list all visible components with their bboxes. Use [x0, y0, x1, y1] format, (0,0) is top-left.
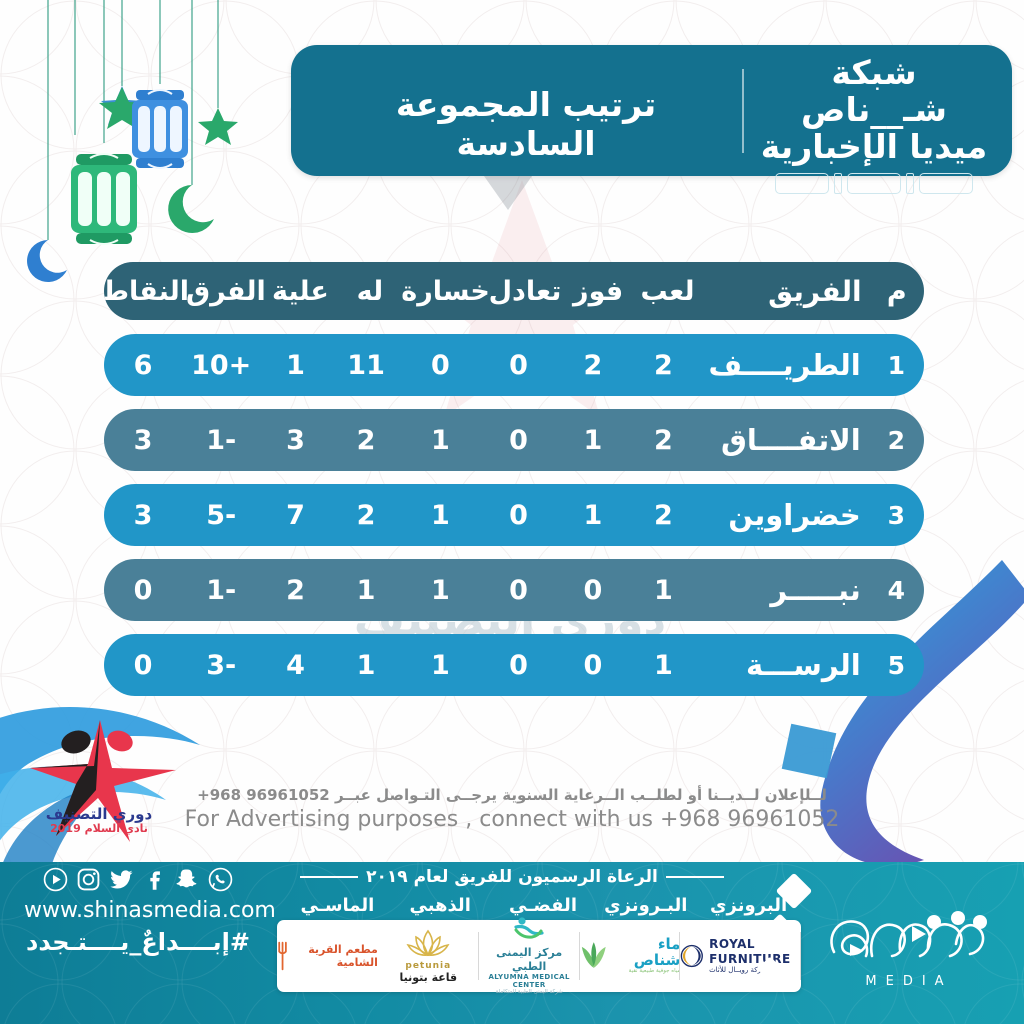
sponsors-title: الرعاة الرسميون للفريق لعام ٢٠١٩ — [366, 867, 658, 887]
banner-pointer — [484, 176, 532, 210]
sponsor-sub: مياه جوفية طبيعية نقية — [612, 968, 680, 975]
social-links — [30, 866, 245, 892]
cell-ga: 4 — [260, 634, 331, 696]
sponsor-shamiya-village[interactable]: مطعم القرية الشامية — [277, 920, 378, 992]
cell-points: 6 — [104, 334, 182, 396]
col-header-team: الفريق — [702, 262, 869, 320]
twitter-icon[interactable] — [108, 866, 134, 892]
globe-icon — [680, 939, 704, 973]
sponsor-shinas-water[interactable]: ماء شناص مياه جوفية طبيعية نقية — [580, 920, 681, 992]
cell-win: 1 — [558, 409, 629, 471]
col-header-played: لعب — [633, 262, 702, 320]
cell-loss: 1 — [401, 634, 479, 696]
cell-gf: 1 — [331, 634, 402, 696]
cell-points: 3 — [104, 409, 182, 471]
cell-loss: 0 — [401, 334, 479, 396]
footer-bar: الرعاة الرسميون للفريق لعام ٢٠١٩ الماسـي… — [0, 862, 1024, 1024]
cell-draw: 0 — [479, 334, 557, 396]
cell-gd: -3 — [182, 634, 260, 696]
media-wordmark: MEDIA — [834, 974, 984, 989]
facebook-icon[interactable] — [141, 866, 167, 892]
col-header-gf: له — [335, 262, 404, 320]
brand-line-2: ميديا الإخبارية — [754, 129, 994, 166]
cell-gd: -1 — [182, 409, 260, 471]
table-header-row: م الفريق لعب فوز تعادل خسارة له علية الف… — [104, 262, 924, 320]
brand-box-small — [834, 173, 842, 194]
cell-loss: 1 — [401, 559, 479, 621]
cell-gd: -5 — [182, 484, 260, 546]
leaf-icon — [580, 939, 608, 973]
cell-gd: -1 — [182, 559, 260, 621]
sponsor-logo-strip: مطعم القرية الشامية — [277, 920, 801, 992]
table-row[interactable]: 1 الطريــــف 2 2 0 0 11 1 +10 6 — [104, 334, 924, 396]
advertising-block: لــلإعلان لــديــنا أو لطلــب الــرعاية … — [0, 786, 1024, 832]
cell-loss: 1 — [401, 409, 479, 471]
cell-team: نبـــــر — [699, 559, 869, 621]
table-row[interactable]: 3 خضراوين 2 1 0 1 2 7 -5 3 — [104, 484, 924, 546]
sponsor-tiers: الماسـي الذهبي الفضـي البـرونزي البرونزي — [286, 892, 800, 918]
network-brand: شبكة شـ__ناص ميديا الإخبارية — [754, 55, 994, 194]
cell-rank: 2 — [869, 409, 924, 471]
sponsor-sub: شركة اليمنى الطبية المتكاملة — [479, 989, 580, 996]
cell-rank: 1 — [869, 334, 924, 396]
col-header-rank: م — [870, 262, 924, 320]
col-header-loss: خسارة — [405, 262, 487, 320]
cell-ga: 7 — [260, 484, 331, 546]
cell-gf: 1 — [331, 559, 402, 621]
col-header-points: النقاط — [104, 262, 186, 320]
advertising-english: For Advertising purposes , connect with … — [0, 807, 1024, 832]
title-rule-right — [300, 876, 358, 878]
brand-box — [847, 173, 901, 194]
cell-played: 1 — [628, 634, 699, 696]
blue-square-decoration — [782, 724, 837, 779]
lotus-icon — [406, 927, 450, 957]
col-header-gd: الفرق — [186, 262, 266, 320]
advertising-arabic: لــلإعلان لــديــنا أو لطلــب الــرعاية … — [0, 786, 1024, 804]
cell-loss: 1 — [401, 484, 479, 546]
cell-ga: 1 — [260, 334, 331, 396]
table-row[interactable]: 5 الرســـة 1 0 0 1 1 4 -3 0 — [104, 634, 924, 696]
title-divider — [742, 69, 744, 153]
title-banner: شبكة شـ__ناص ميديا الإخبارية ترتيب المجم… — [291, 45, 1012, 176]
brand-box — [775, 173, 829, 194]
sponsor-name-ar: ماء شناص — [612, 937, 680, 969]
fork-icon — [277, 936, 288, 976]
cell-played: 2 — [628, 484, 699, 546]
cell-win: 0 — [558, 559, 629, 621]
instagram-icon[interactable] — [75, 866, 101, 892]
poster-canvas: شبكة شـ__ناص ميديا الإخبارية ترتيب المجم… — [0, 0, 1024, 1024]
cell-rank: 3 — [869, 484, 924, 546]
cell-ga: 2 — [260, 559, 331, 621]
cell-draw: 0 — [479, 559, 557, 621]
cell-points: 3 — [104, 484, 182, 546]
page-title: ترتيب المجموعة السادسة — [336, 85, 716, 163]
diamond — [776, 873, 813, 910]
col-header-win: فوز — [563, 262, 632, 320]
sponsor-name-ar: مطعم القرية الشامية — [293, 943, 378, 970]
cell-rank: 4 — [869, 559, 924, 621]
cell-team: الاتفــــاق — [699, 409, 869, 471]
cell-team: الرســـة — [699, 634, 869, 696]
brand-box — [919, 173, 973, 194]
hashtag-slogan: #إبــــداعٌ_يــــتـجدد — [24, 928, 252, 956]
cell-played: 2 — [628, 409, 699, 471]
cell-gf: 2 — [331, 484, 402, 546]
medical-icon — [510, 916, 548, 942]
brand-box-small — [906, 173, 914, 194]
diamond-decoration — [759, 872, 819, 1022]
cell-gd: +10 — [182, 334, 260, 396]
cell-win: 0 — [558, 634, 629, 696]
tier-gold: الذهبي — [389, 895, 492, 916]
cell-win: 2 — [558, 334, 629, 396]
whatsapp-icon[interactable] — [207, 866, 233, 892]
sponsor-name-en: petunia — [399, 961, 457, 971]
tier-diamond: الماسـي — [286, 895, 389, 916]
cell-team: الطريــــف — [699, 334, 869, 396]
table-row[interactable]: 2 الاتفــــاق 2 1 0 1 2 3 -1 3 — [104, 409, 924, 471]
col-header-draw: تعادل — [487, 262, 564, 320]
col-header-ga: علية — [266, 262, 335, 320]
cell-played: 1 — [628, 559, 699, 621]
standings-table: م الفريق لعب فوز تعادل خسارة له علية الف… — [104, 262, 924, 709]
cell-gf: 11 — [331, 334, 402, 396]
diamond — [757, 956, 782, 981]
cell-rank: 5 — [869, 634, 924, 696]
cell-played: 2 — [628, 334, 699, 396]
website-url[interactable]: www.shinasmedia.com — [24, 898, 252, 923]
sponsor-alyumna-medical[interactable]: مركز اليمنى الطبي ALYUMNA MEDICAL CENTER… — [479, 920, 580, 992]
diamond — [764, 913, 795, 944]
cell-win: 1 — [558, 484, 629, 546]
ramadan-lanterns-decoration — [0, 0, 300, 290]
tier-bronze-1: البـرونزي — [594, 895, 697, 916]
brand-line-1: شبكة شـ__ناص — [754, 55, 994, 129]
cell-points: 0 — [104, 634, 182, 696]
sponsor-name-ar: مركز اليمنى الطبي — [479, 946, 580, 973]
table-row[interactable]: 4 نبـــــر 1 0 0 1 1 2 -1 0 — [104, 559, 924, 621]
snapchat-icon[interactable] — [174, 866, 200, 892]
cell-draw: 0 — [479, 634, 557, 696]
sponsor-name-ar: قاعة بتونيا — [399, 971, 457, 984]
cell-draw: 0 — [479, 484, 557, 546]
title-rule-left — [666, 876, 724, 878]
cell-gf: 2 — [331, 409, 402, 471]
brand-mark-boxes — [754, 173, 994, 194]
sponsor-petunia[interactable]: petunia قاعة بتونيا — [378, 920, 479, 992]
cell-points: 0 — [104, 559, 182, 621]
cell-draw: 0 — [479, 409, 557, 471]
cell-team: خضراوين — [699, 484, 869, 546]
tier-silver: الفضـي — [492, 895, 595, 916]
sponsor-name-en: ALYUMNA MEDICAL CENTER — [479, 973, 580, 989]
cell-ga: 3 — [260, 409, 331, 471]
youtube-icon[interactable] — [42, 866, 68, 892]
